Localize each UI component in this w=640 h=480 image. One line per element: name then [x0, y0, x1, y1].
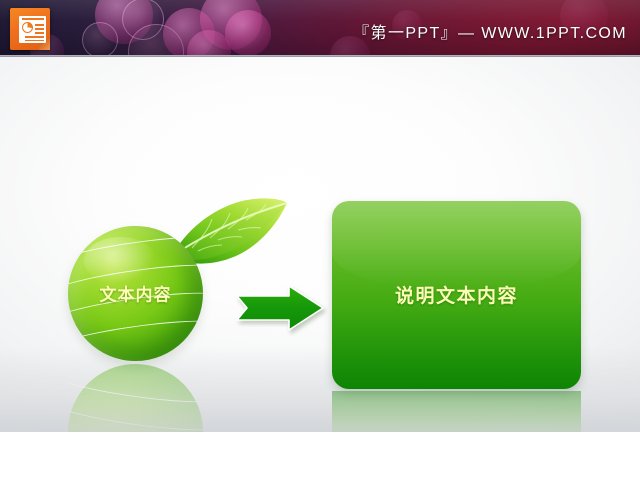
description-box-label: 说明文本内容 [332, 281, 581, 308]
box-reflection [332, 391, 581, 432]
box-gloss [332, 201, 581, 287]
right-arrow-icon [235, 285, 325, 331]
brand-text: 『第一PPT』— WWW.1PPT.COM [353, 19, 627, 43]
sphere-label: 文本内容 [68, 280, 203, 305]
sphere-highlight [84, 237, 157, 286]
text-sphere[interactable]: 文本内容 [68, 226, 203, 361]
powerpoint-file-icon [7, 5, 51, 51]
slide-canvas: 说明文本内容 [0, 57, 640, 432]
sphere-reflection [68, 364, 203, 432]
footer-bar: 第一PPT HTTP://WWW.1PPT.COM [0, 432, 640, 480]
description-box[interactable]: 说明文本内容 [332, 201, 581, 389]
header-banner: 『第一PPT』— WWW.1PPT.COM [0, 0, 640, 57]
slide-page: 『第一PPT』— WWW.1PPT.COM 说明文本内容 [0, 0, 640, 480]
